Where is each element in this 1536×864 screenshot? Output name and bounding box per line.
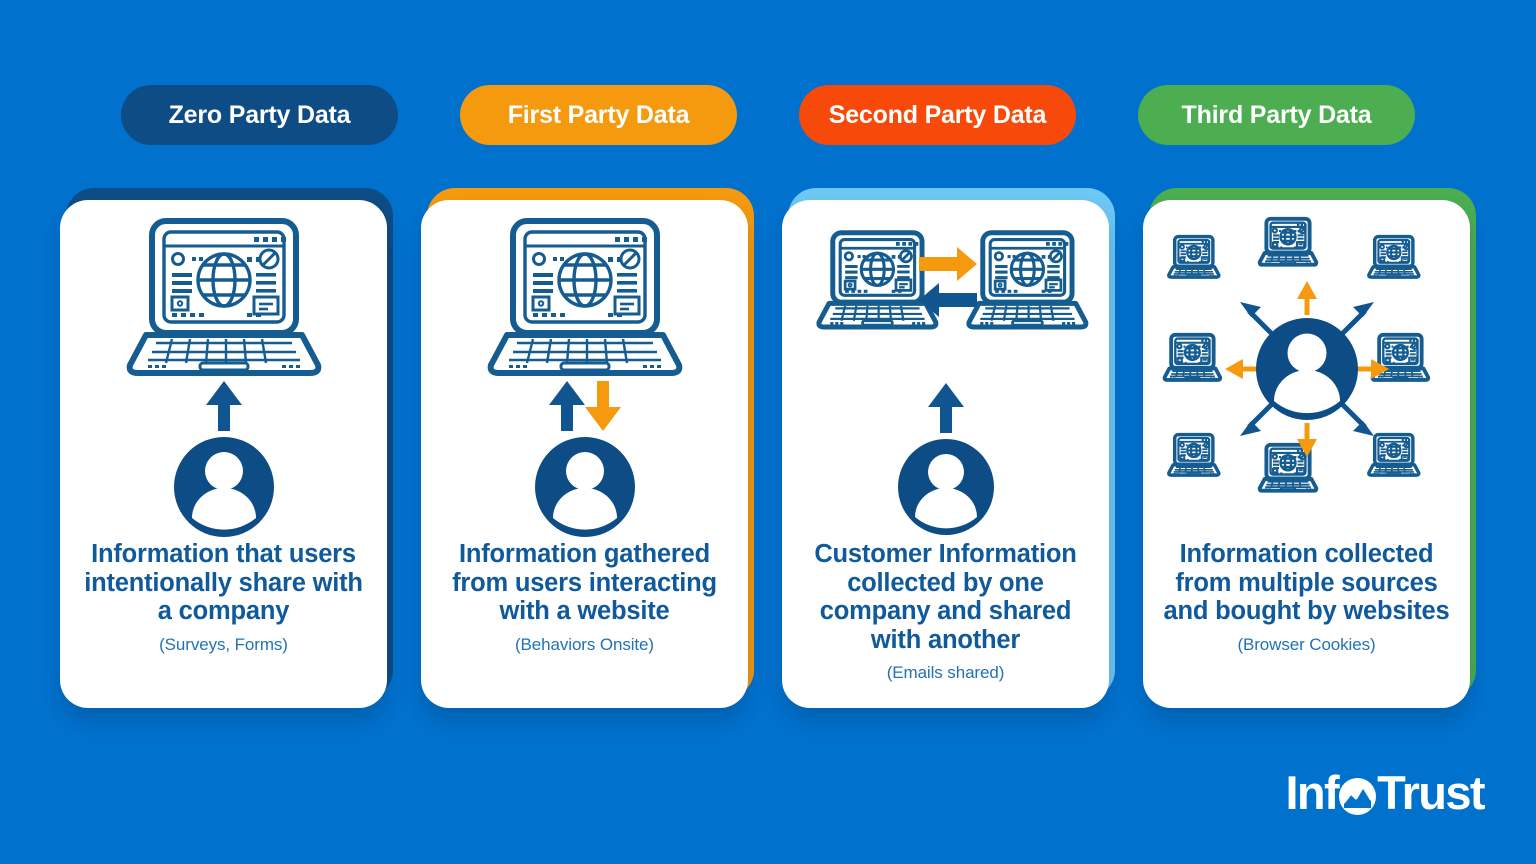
laptop-icon-top-right [1368,237,1418,278]
card-text-block: Information collected from multiple sour… [1143,540,1470,655]
card-first-party[interactable]: Information gathered from users interact… [421,188,754,708]
card-illustration-two-laptops-exchange-person [782,200,1109,540]
laptop-icon-left [818,233,935,327]
card-body: Information gathered from users interact… [421,200,748,708]
infotrust-logo[interactable]: Inf Trust [1285,769,1484,816]
person-avatar-icon [535,437,635,537]
no-entry-icon [1050,251,1061,262]
arrow-up-right-blue-icon [1341,302,1374,335]
person-avatar-icon [1256,318,1358,420]
card-illustration-person-hub-eight-laptops [1143,200,1470,540]
person-avatar-icon [898,439,994,535]
no-entry-icon [900,251,911,262]
category-pill-row: Zero Party Data First Party Data Second … [0,85,1536,145]
globe-icon [559,254,611,306]
arrow-down-left-blue-icon [1240,403,1273,436]
up-arrow-blue-icon [206,381,242,431]
data-type-card-row: Information that users intentionally sha… [0,188,1536,708]
pill-label: Third Party Data [1182,101,1372,130]
arrow-up-orange-icon [1297,281,1317,315]
pill-first-party[interactable]: First Party Data [460,85,737,145]
down-arrow-orange-icon [585,381,621,431]
card-text-block: Customer Information collected by one co… [782,540,1109,683]
pill-zero-party[interactable]: Zero Party Data [121,85,398,145]
card-title: Information collected from multiple sour… [1157,540,1456,626]
card-subtitle: (Browser Cookies) [1157,635,1456,655]
titlebar-dots [615,237,647,242]
pill-second-party[interactable]: Second Party Data [799,85,1076,145]
card-text-block: Information gathered from users interact… [421,540,748,655]
arrow-left-orange-icon [1225,359,1259,379]
up-arrow-blue-icon [928,383,964,433]
card-third-party[interactable]: Information collected from multiple sour… [1143,188,1476,708]
card-title: Information that users intentionally sha… [74,540,373,626]
card-illustration-laptop-two-arrows-person [421,200,748,540]
globe-icon [1011,253,1043,285]
card-title: Customer Information collected by one co… [796,540,1095,654]
card-subtitle: (Behaviors Onsite) [435,635,734,655]
right-arrow-orange-icon [919,247,977,281]
logo-wordmark: Inf Trust [1285,769,1484,816]
card-body: Information that users intentionally sha… [60,200,387,708]
laptop-icon-bottom-right [1368,435,1418,476]
arrow-down-right-blue-icon [1341,403,1374,436]
card-body: Information collected from multiple sour… [1143,200,1470,708]
laptop-icon [490,221,679,373]
laptop-icon-right [968,233,1085,327]
card-illustration-laptop-up-arrow-person [60,200,387,540]
person-avatar-icon [174,437,274,537]
card-body: Customer Information collected by one co… [782,200,1109,708]
globe-icon [861,253,893,285]
pill-label: Zero Party Data [169,101,351,130]
card-title: Information gathered from users interact… [435,540,734,626]
card-text-block: Information that users intentionally sha… [60,540,387,655]
titlebar-dots [254,237,286,242]
pill-label: Second Party Data [829,101,1047,130]
card-subtitle: (Surveys, Forms) [74,635,373,655]
no-entry-icon [621,250,639,268]
laptop-icon [129,221,318,373]
logo-analytics-circle-icon [1339,778,1376,815]
card-zero-party[interactable]: Information that users intentionally sha… [60,188,393,708]
pill-label: First Party Data [508,101,690,130]
logo-text-trust: Trust [1377,769,1484,816]
pill-third-party[interactable]: Third Party Data [1138,85,1415,145]
laptop-icon-top-center [1259,219,1316,265]
card-second-party[interactable]: Customer Information collected by one co… [782,188,1115,708]
no-entry-icon [260,250,278,268]
up-arrow-blue-icon [549,381,585,431]
globe-icon [198,254,250,306]
laptop-icon-bottom-left [1168,435,1218,476]
card-subtitle: (Emails shared) [796,663,1095,683]
laptop-icon-middle-left [1164,335,1220,380]
logo-text-inf: Inf [1285,769,1338,816]
arrow-up-left-blue-icon [1240,302,1273,335]
laptop-icon-top-left [1168,237,1218,278]
